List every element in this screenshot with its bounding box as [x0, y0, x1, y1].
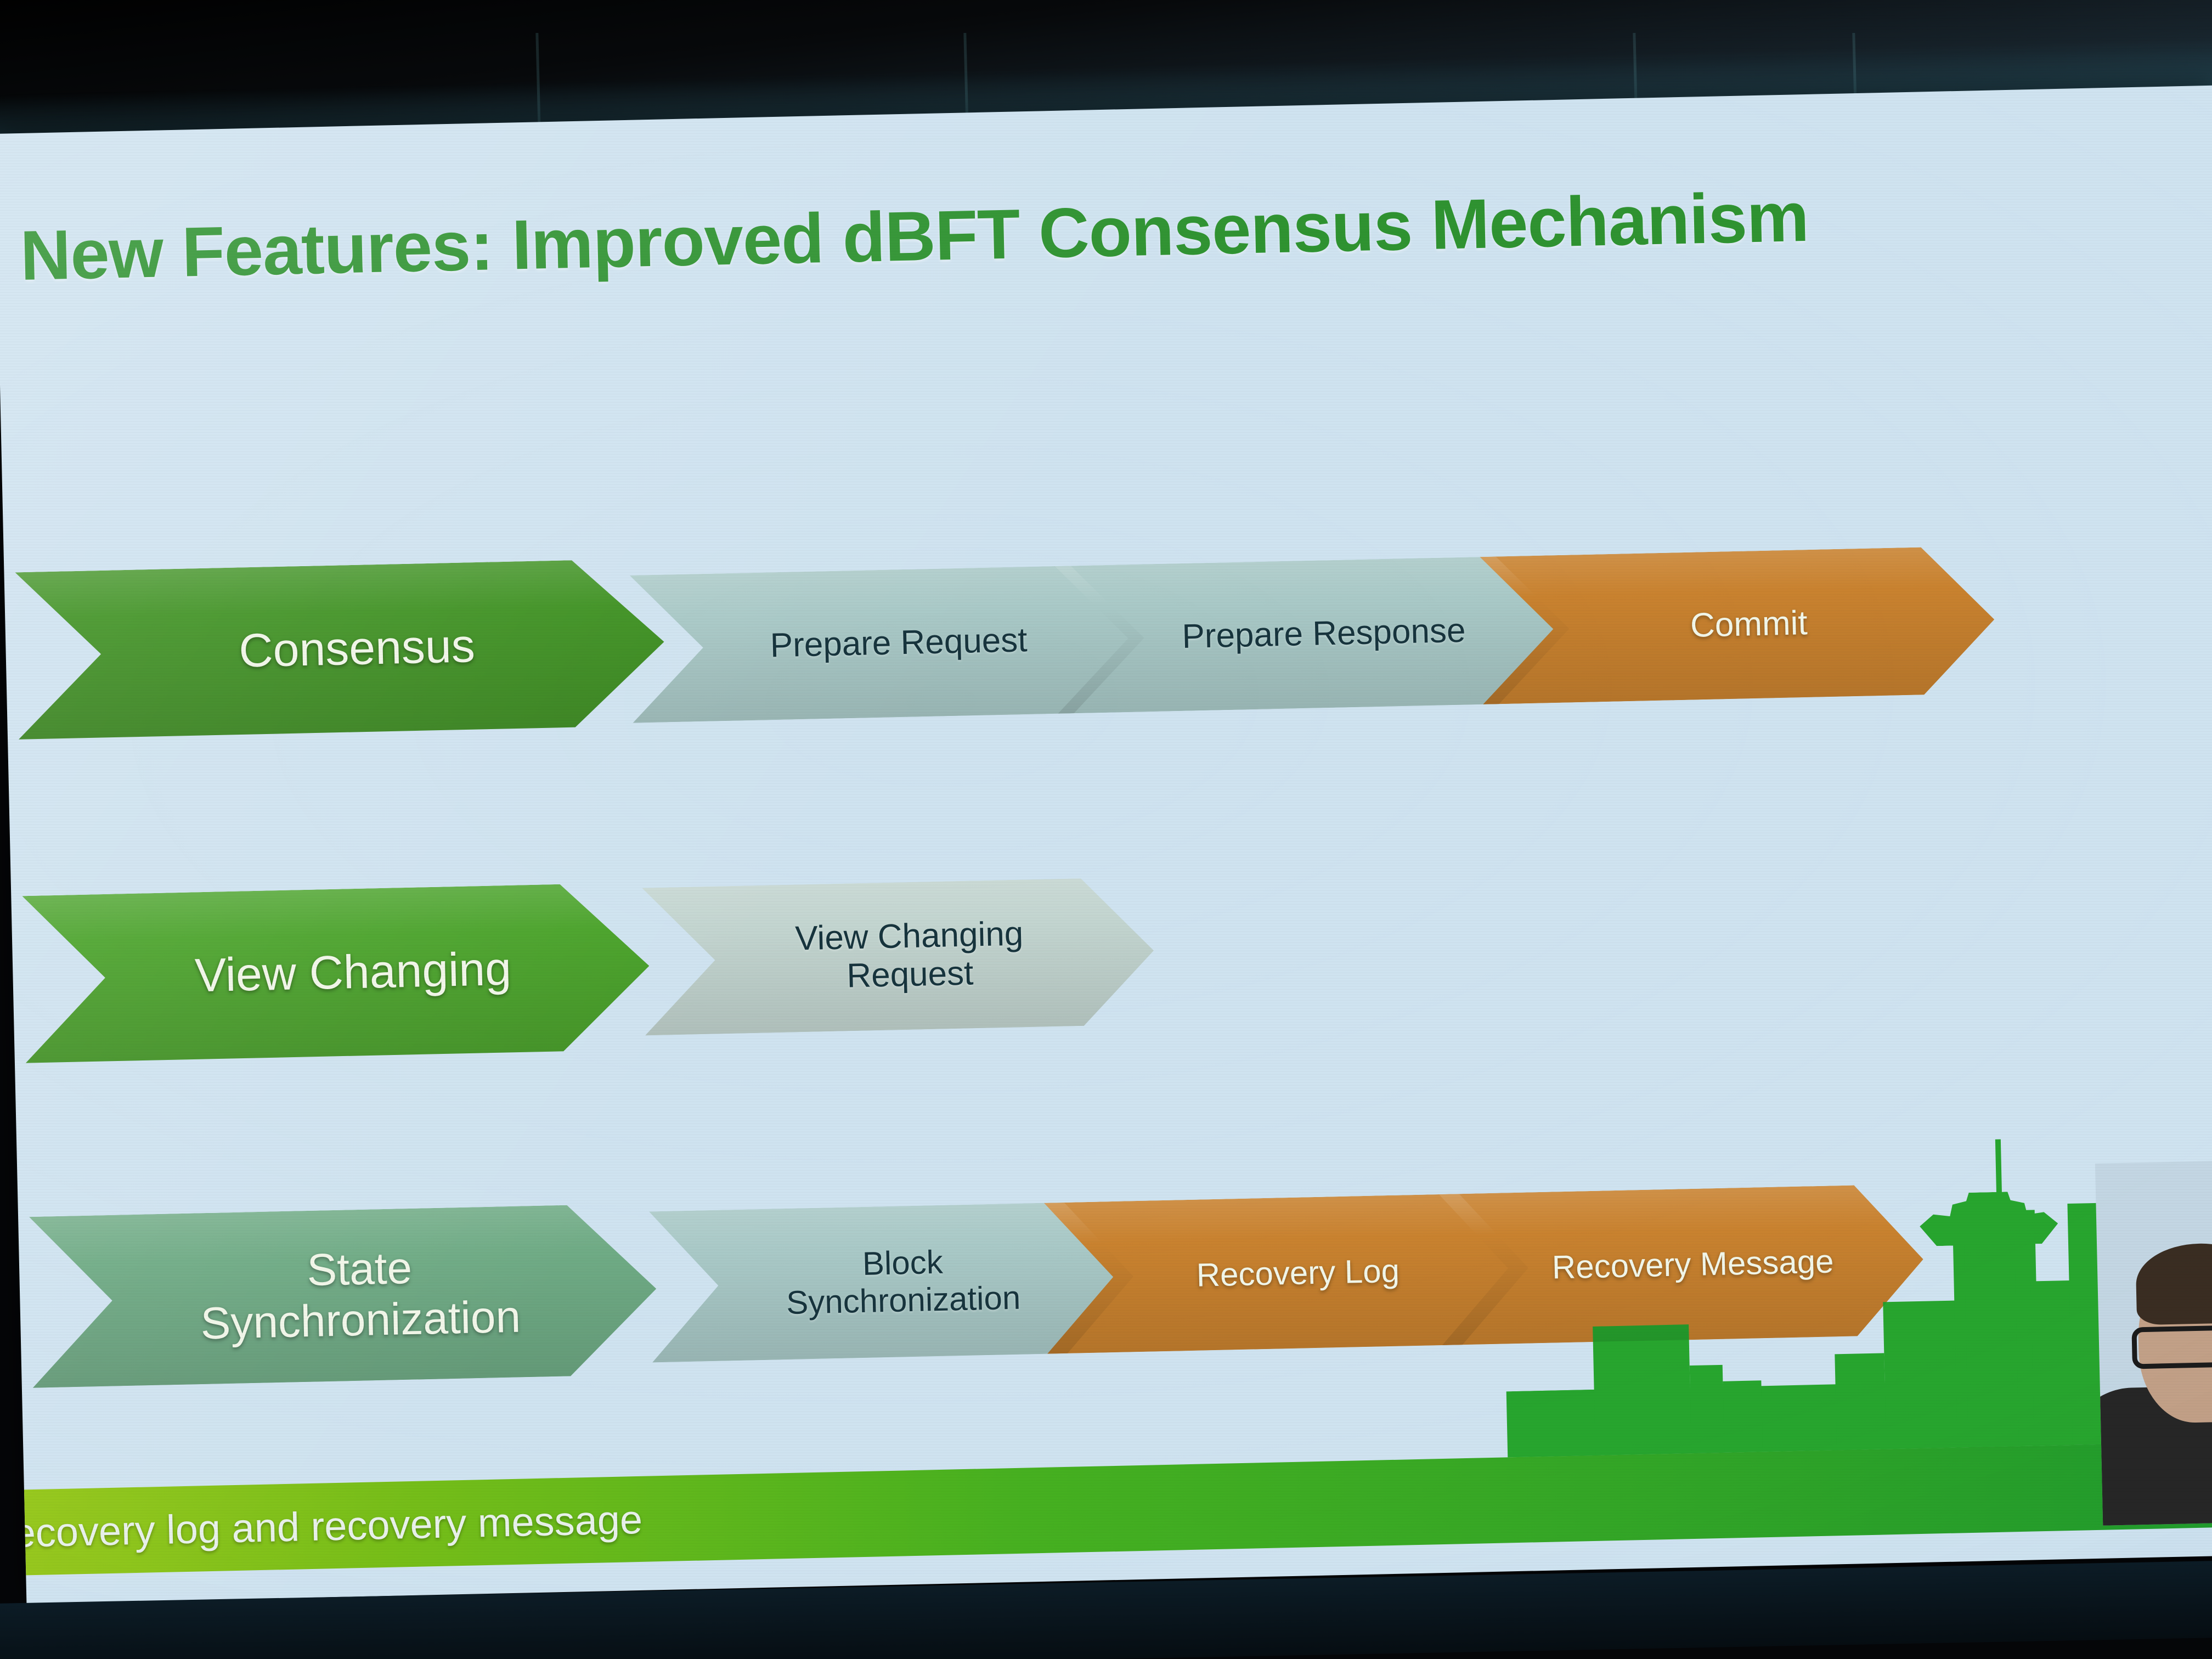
chevron-head-view-changing[interactable]: View Changing [22, 882, 651, 1063]
skyline-building [1883, 1300, 1960, 1449]
chevron-head-label: View Changing [180, 942, 526, 1003]
chevron-step-consensus-3[interactable]: Commit [1480, 546, 1996, 704]
chevron-head-label: Consensus [224, 619, 489, 678]
chevron-step-label: Block Synchronization [771, 1242, 1035, 1322]
chevron-head-label: State Synchronization [185, 1240, 535, 1350]
chevron-step-label: Recovery Message [1537, 1242, 1848, 1286]
skyline-building [1690, 1365, 1724, 1453]
chevron-step-label: Commit [1675, 604, 1822, 646]
conference-room-photo: New Features: Improved dBFT Consensus Me… [0, 0, 2212, 1659]
chevron-step-label: View Changing Request [781, 915, 1039, 997]
chevron-step-label: Prepare Request [755, 621, 1042, 665]
observation-tower-head [1919, 1190, 2058, 1246]
observation-tower-spire [1995, 1139, 2002, 1199]
chevron-head-state-synchronization[interactable]: State Synchronization [29, 1203, 658, 1388]
chevron-step-view-changing-1[interactable]: View Changing Request [642, 877, 1155, 1035]
chevron-step-label: Recovery Log [1182, 1252, 1414, 1294]
skyline-building [1512, 1390, 1601, 1457]
slide-title: New Features: Improved dBFT Consensus Me… [19, 175, 1886, 296]
projection-screen: New Features: Improved dBFT Consensus Me… [0, 86, 2212, 1604]
skyline-building [1593, 1324, 1691, 1455]
skyline-building [1723, 1380, 1763, 1452]
presenter-webcam-overlay [2095, 1160, 2212, 1526]
chevron-head-consensus[interactable]: Consensus [15, 558, 665, 740]
footer-banner-text: ecovery log and recovery message [13, 1496, 643, 1556]
presenter-glasses [2131, 1325, 2212, 1369]
presenter-hair [2135, 1242, 2212, 1325]
chevron-step-label: Prepare Response [1167, 612, 1480, 657]
skyline-building [2031, 1280, 2074, 1446]
observation-tower-shaft [1963, 1210, 2019, 1447]
footer-banner: ecovery log and recovery message [24, 1441, 2212, 1576]
skyline-building [1835, 1353, 1886, 1450]
